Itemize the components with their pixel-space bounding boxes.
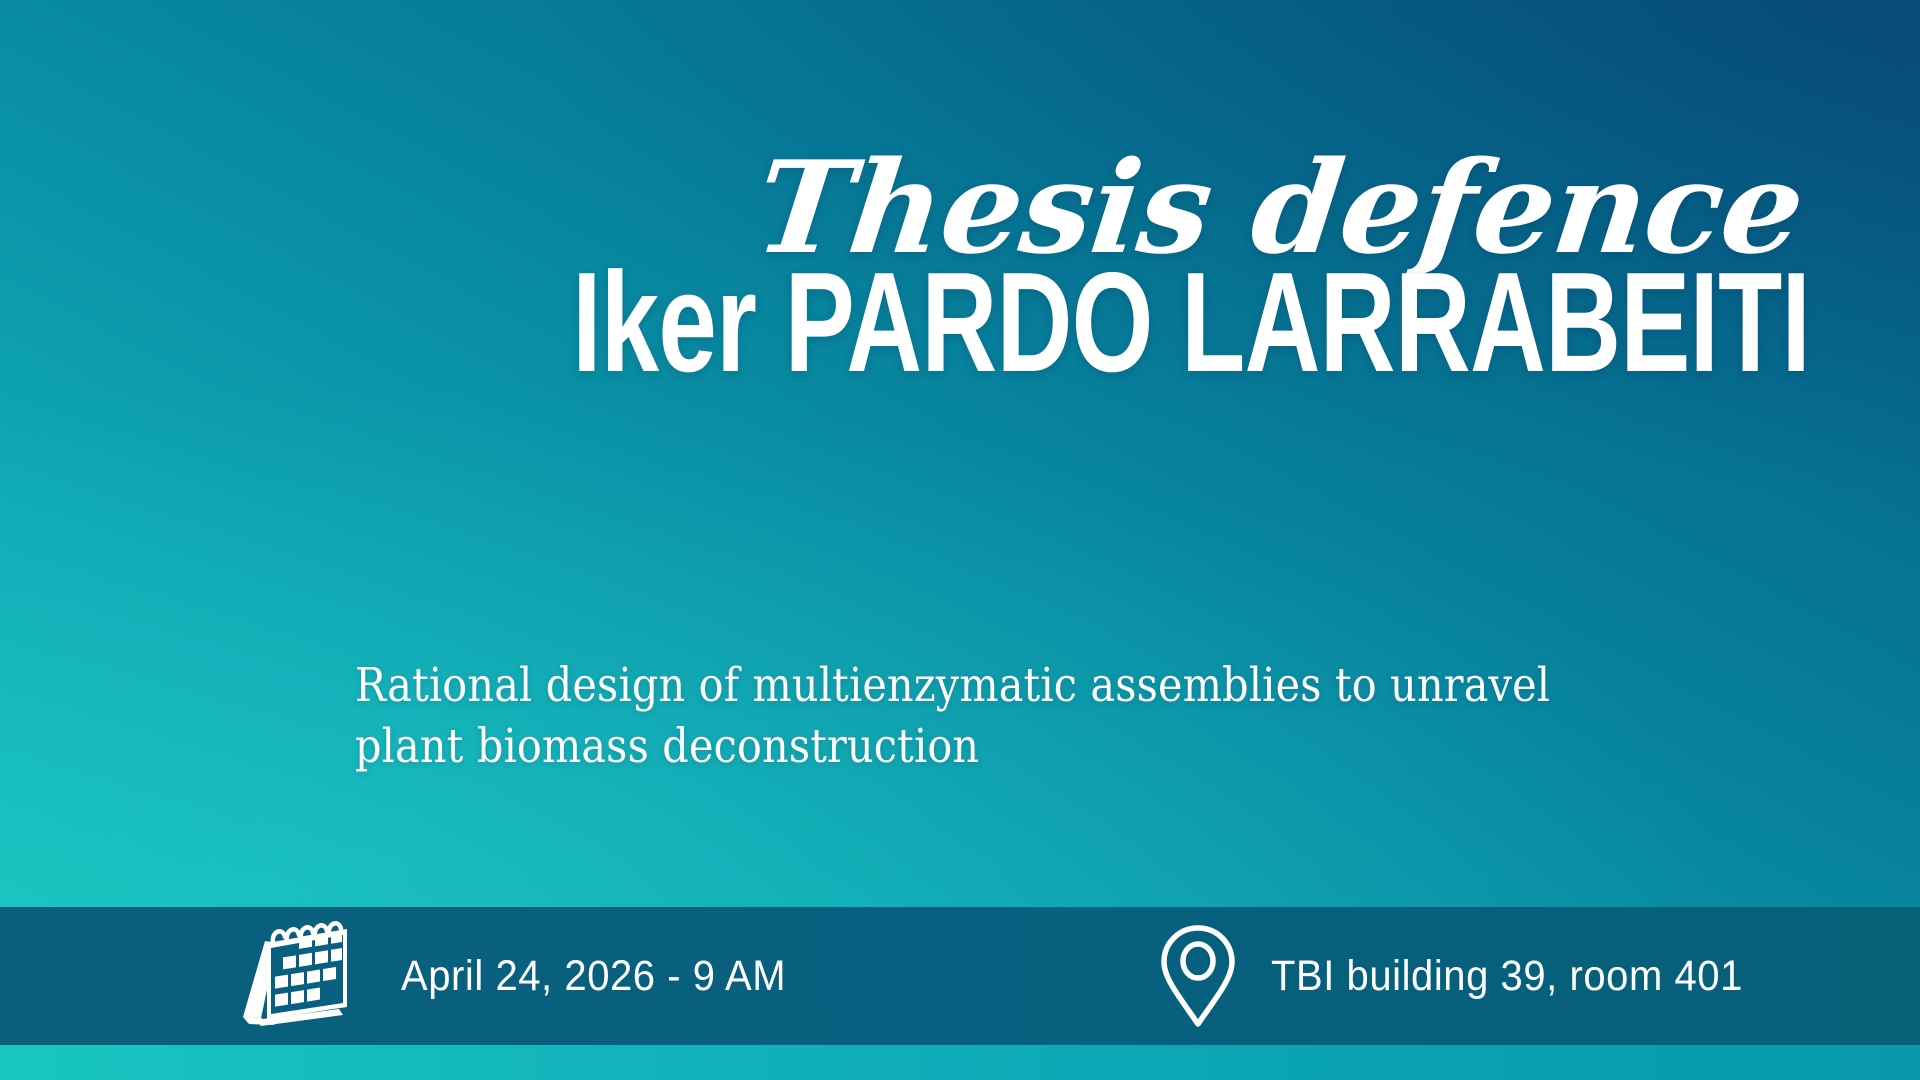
candidate-name: Iker PARDO LARRABEITI — [471, 261, 1810, 386]
headline-block: Thesis defence Iker PARDO LARRABEITI — [0, 150, 1920, 386]
footer-accent-strip — [0, 1045, 1920, 1080]
poster-canvas: Thesis defence Iker PARDO LARRABEITI Rat… — [0, 0, 1920, 1080]
footer-location-item: TBI building 39, room 401 — [1155, 907, 1778, 1045]
footer-date-item: April 24, 2026 - 9 AM — [235, 907, 815, 1045]
calendar-icon — [235, 921, 355, 1031]
event-date-text: April 24, 2026 - 9 AM — [401, 952, 786, 1001]
event-location-text: TBI building 39, room 401 — [1271, 952, 1743, 1001]
map-pin-icon — [1155, 921, 1241, 1031]
thesis-subtitle: Rational design of multienzymatic assemb… — [355, 655, 1605, 777]
